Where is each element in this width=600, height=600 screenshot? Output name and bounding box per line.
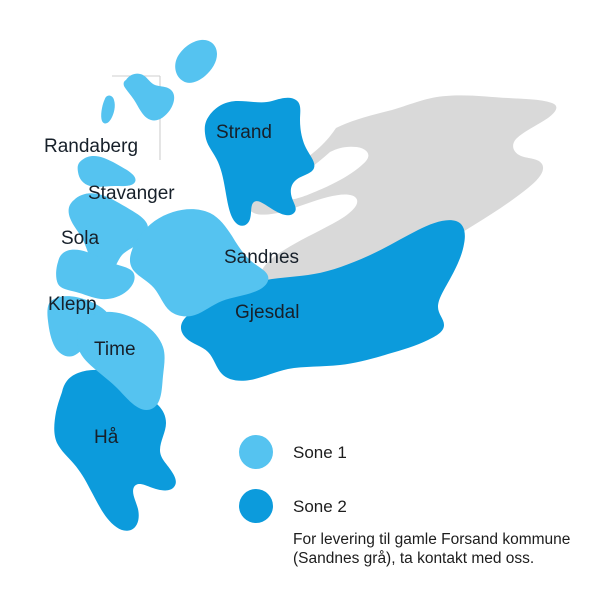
- region-label-gjesdal: Gjesdal: [235, 302, 299, 323]
- legend-swatch-sone-1-icon: [239, 435, 273, 469]
- legend-swatch-sone-2-icon: [239, 489, 273, 523]
- delivery-zone-map: Randaberg Stavanger Sola Klepp Time Sand…: [0, 0, 600, 600]
- region-label-klepp: Klepp: [48, 294, 97, 315]
- legend-note-line-1: For levering til gamle Forsand kommune: [293, 531, 570, 548]
- region-label-strand: Strand: [216, 122, 272, 143]
- legend-note-line-2: (Sandnes grå), ta kontakt med oss.: [293, 550, 534, 567]
- map-svg-canvas: Randaberg Stavanger Sola Klepp Time Sand…: [0, 0, 600, 600]
- region-label-ha: Hå: [94, 427, 119, 448]
- legend-label-sone-2: Sone 2: [293, 497, 347, 516]
- region-label-randaberg: Randaberg: [44, 136, 138, 157]
- region-label-sola: Sola: [61, 228, 99, 249]
- region-label-time: Time: [94, 339, 136, 360]
- legend-label-sone-1: Sone 1: [293, 443, 347, 462]
- region-label-sandnes: Sandnes: [224, 247, 299, 268]
- region-label-stavanger: Stavanger: [88, 183, 175, 204]
